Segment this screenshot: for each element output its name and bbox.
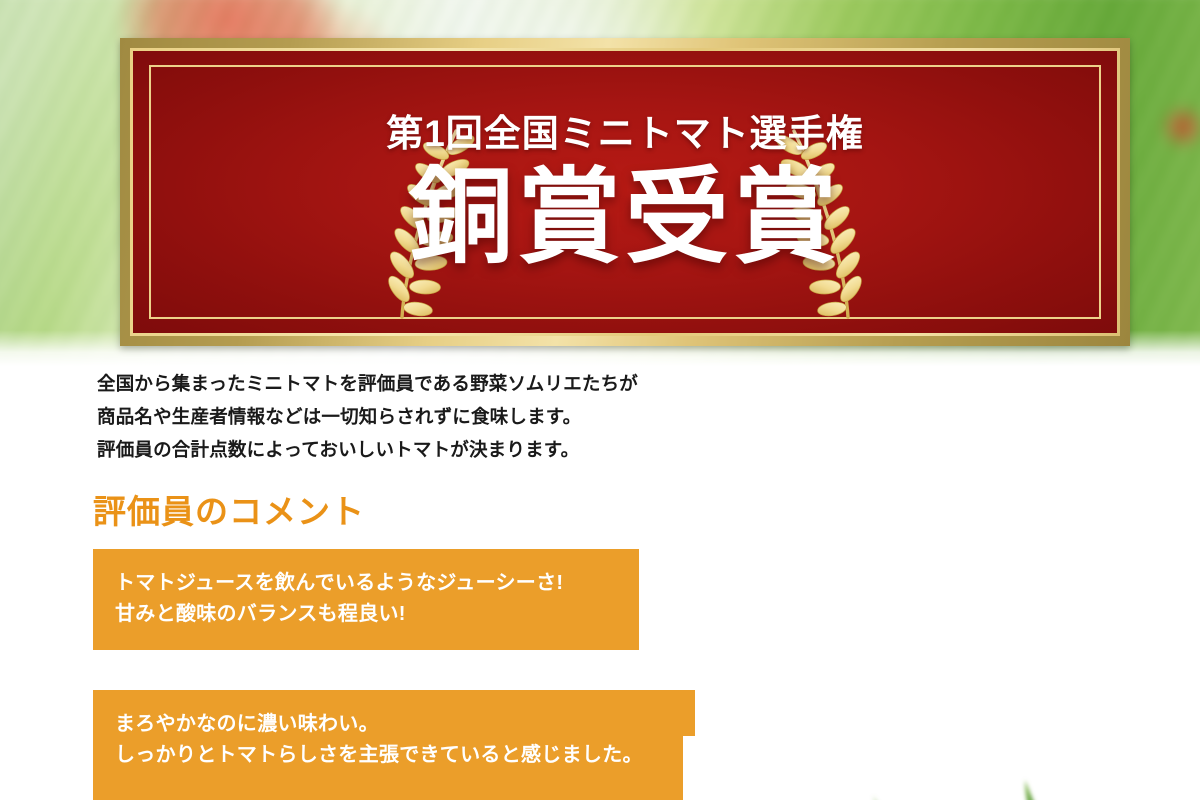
comment-line: 甘みと酸味のバランスも程良い! — [115, 599, 617, 630]
comment-card: トマトジュースを飲んでいるようなジューシーさ! 甘みと酸味のバランスも程良い! — [93, 549, 639, 650]
comment-line: トマトジュースを飲んでいるようなジューシーさ! — [115, 568, 617, 599]
intro-line: 商品名や生産者情報などは一切知らされずに食味します。 — [97, 407, 677, 427]
hero-section: 第1回全国ミニトマト選手権 銅賞受賞 — [0, 0, 1200, 366]
intro-line: 評価員の合計点数によっておいしいトマトが決まります。 — [97, 440, 677, 460]
cherry-tomatoes-photo — [683, 736, 1200, 800]
comment-line: まろやかなのに濃い味わい。 — [115, 709, 673, 740]
comments-heading: 評価員のコメント — [93, 495, 365, 528]
award-plaque: 第1回全国ミニトマト選手権 銅賞受賞 — [120, 38, 1130, 346]
intro-paragraph: 全国から集まったミニトマトを評価員である野菜ソムリエたちが 商品名や生産者情報な… — [97, 374, 677, 473]
plaque-text-block: 第1回全国ミニトマト選手権 銅賞受賞 — [133, 51, 1117, 333]
comment-card: まろやかなのに濃い味わい。 しっかりとトマトらしさを主張できていると感じました。 — [93, 690, 695, 800]
poster-canvas: 第1回全国ミニトマト選手権 銅賞受賞 全国から集まったミニトマトを評価員である野… — [0, 0, 1200, 800]
plaque-red-panel: 第1回全国ミニトマト選手権 銅賞受賞 — [133, 51, 1117, 333]
award-title: 銅賞受賞 — [409, 166, 841, 270]
plaque-gold-band: 第1回全国ミニトマト選手権 銅賞受賞 — [130, 48, 1120, 336]
content-section: 全国から集まったミニトマトを評価員である野菜ソムリエたちが 商品名や生産者情報な… — [0, 366, 1200, 800]
award-subtitle: 第1回全国ミニトマト選手権 — [386, 115, 864, 152]
intro-line: 全国から集まったミニトマトを評価員である野菜ソムリエたちが — [97, 374, 677, 394]
comment-line: しっかりとトマトらしさを主張できていると感じました。 — [115, 740, 673, 771]
